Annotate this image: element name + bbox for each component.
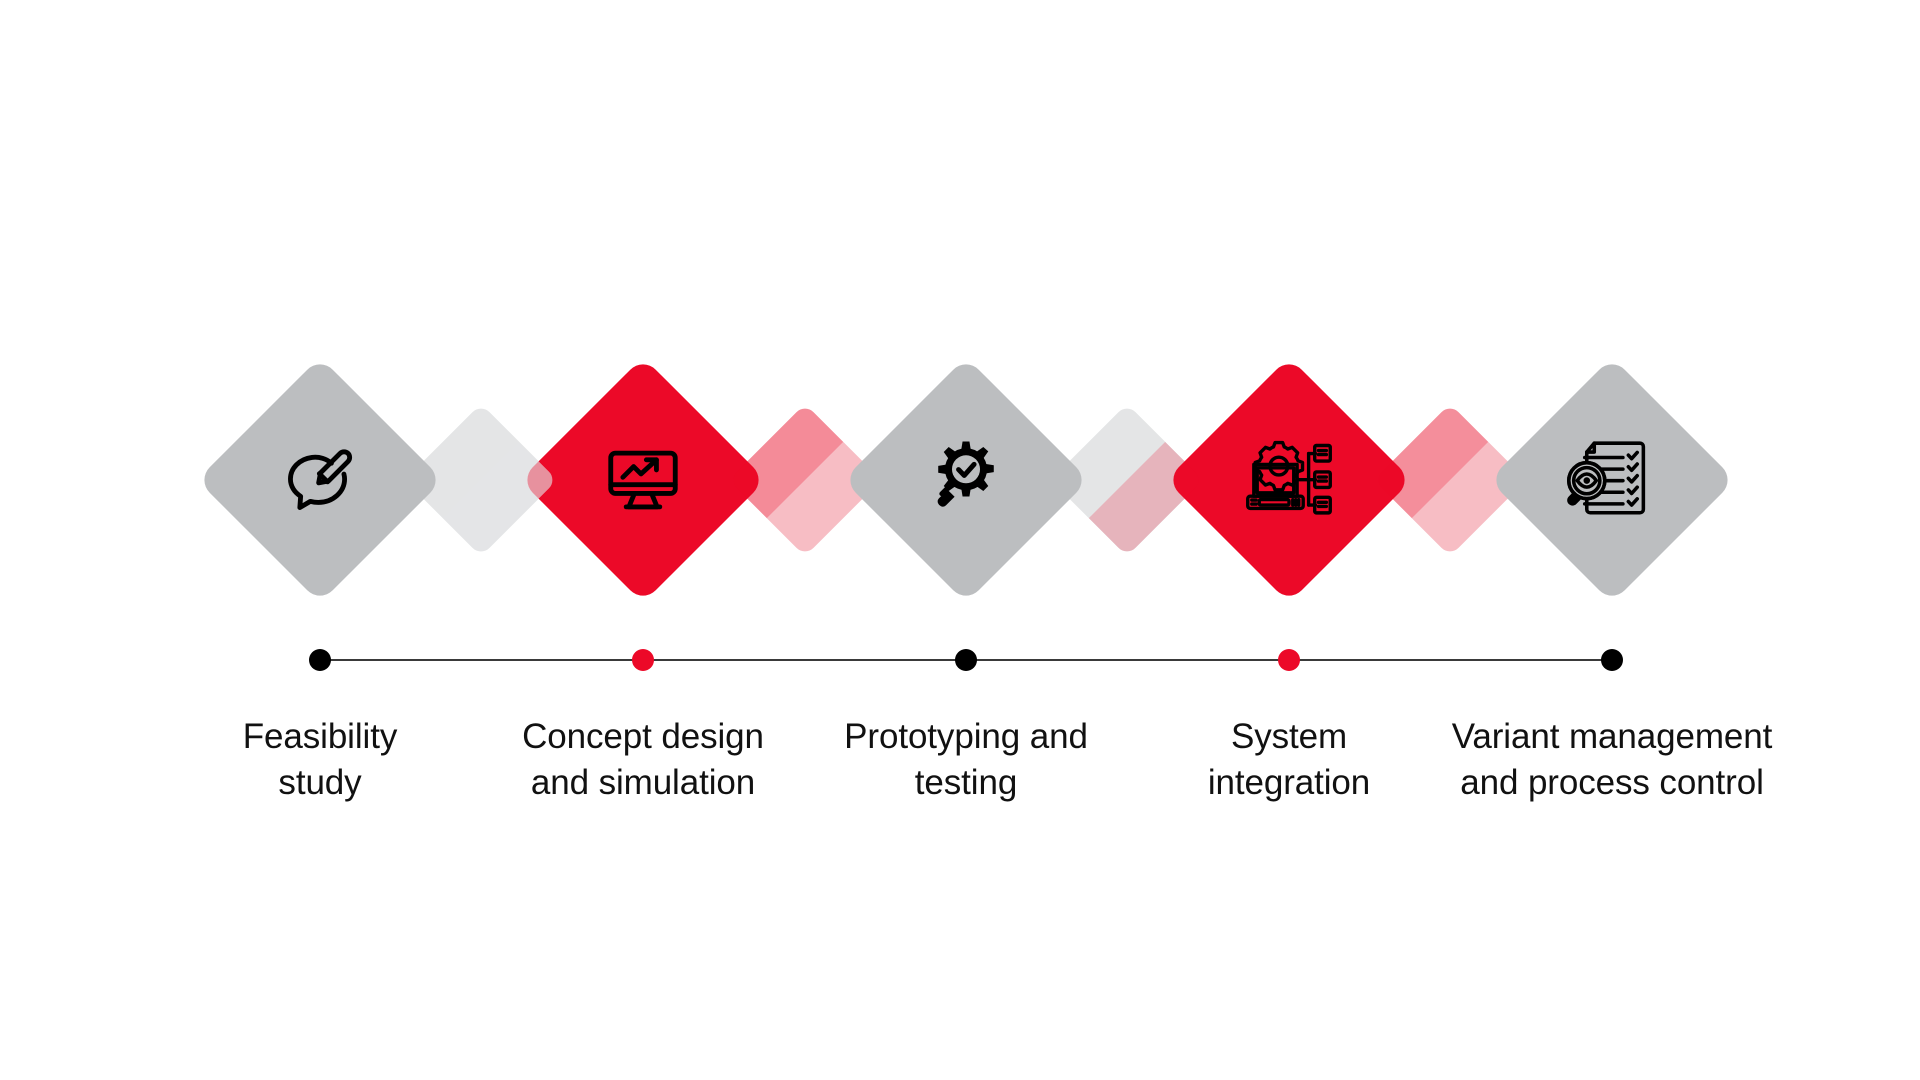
process-timeline-diagram: Feasibility study Concept design and sim… bbox=[0, 0, 1920, 1080]
timeline-dot-2[interactable] bbox=[632, 649, 654, 671]
connector-overlap-4 bbox=[1374, 404, 1527, 557]
connector-overlap-1 bbox=[405, 404, 558, 557]
step-label-4: System integration bbox=[1124, 714, 1454, 805]
connector-overlap-3 bbox=[1051, 404, 1204, 557]
connector-overlap-2 bbox=[729, 404, 882, 557]
timeline-dot-4[interactable] bbox=[1278, 649, 1300, 671]
connector-overlap-layer bbox=[0, 0, 1920, 1080]
step-label-3: Prototyping and testing bbox=[801, 714, 1131, 805]
step-label-1: Feasibility study bbox=[155, 714, 485, 805]
timeline-dot-5[interactable] bbox=[1601, 649, 1623, 671]
timeline-dot-3[interactable] bbox=[955, 649, 977, 671]
step-label-2: Concept design and simulation bbox=[478, 714, 808, 805]
timeline-dot-1[interactable] bbox=[309, 649, 331, 671]
step-label-5: Variant management and process control bbox=[1412, 714, 1812, 805]
